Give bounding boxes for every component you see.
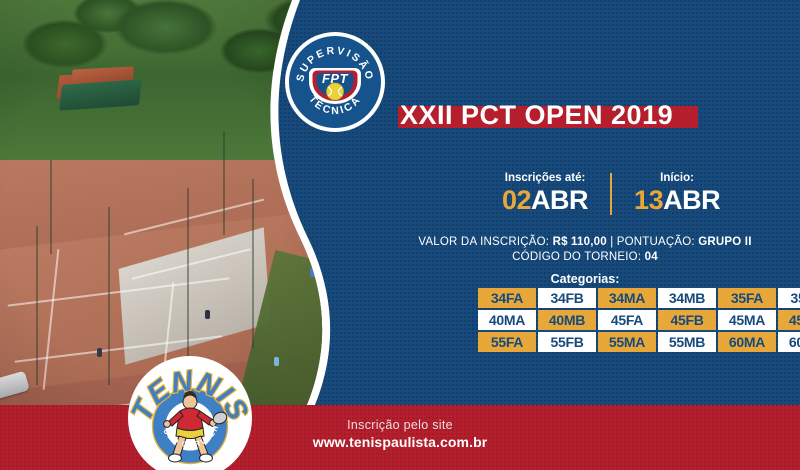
start-month: ABR xyxy=(663,185,720,215)
tennis-ball-icon xyxy=(327,83,344,100)
badge-artwork: SUPERVISÃO TÉCNICA FPT xyxy=(285,32,385,132)
points-group-value: GRUPO II xyxy=(698,236,751,248)
category-chip: 55MA xyxy=(598,332,656,352)
start-day: 13 xyxy=(634,185,663,215)
dates-row: Inscrições até: 02ABR Início: 13ABR xyxy=(480,172,742,216)
info-line-fee-points: VALOR DA INSCRIÇÃO: R$ 110,00 | PONTUAÇÃ… xyxy=(370,235,800,250)
categories-grid: 34FA34FB34MA34MB35FA35FB35MA35MB40MA40MB… xyxy=(478,288,800,352)
code-value: 04 xyxy=(645,251,658,263)
category-chip: 55FB xyxy=(538,332,596,352)
categories-heading: Categorias: xyxy=(370,272,800,286)
category-chip: 34MA xyxy=(598,288,656,308)
deadline-month: ABR xyxy=(531,185,588,215)
registration-deadline-label: Inscrições até: xyxy=(502,172,588,184)
footer-website[interactable]: www.tenispaulista.com.br xyxy=(0,434,800,450)
start-date-label: Início: xyxy=(634,172,720,184)
category-chip: 45FA xyxy=(598,310,656,330)
club-logo-artwork: TENNIS PAULO CARVALHO xyxy=(128,356,252,470)
category-chip: 34MB xyxy=(658,288,716,308)
category-chip: 35FA xyxy=(718,288,776,308)
club-logo: TENNIS PAULO CARVALHO xyxy=(128,356,252,470)
poster-content-column: XXII PCT OPEN 2019 Inscrições até: 02ABR… xyxy=(370,0,800,470)
code-label: CÓDIGO DO TORNEIO: xyxy=(512,251,644,263)
start-date: Início: 13ABR xyxy=(612,172,742,216)
page-title: XXII PCT OPEN 2019 xyxy=(400,100,800,131)
category-chip: 40MA xyxy=(478,310,536,330)
start-date-value: 13ABR xyxy=(634,185,720,216)
fpt-supervision-badge: SUPERVISÃO TÉCNICA FPT xyxy=(285,32,385,132)
category-chip: 45FB xyxy=(658,310,716,330)
footer: Inscrição pelo site www.tenispaulista.co… xyxy=(0,418,800,450)
info-line-code: CÓDIGO DO TORNEIO: 04 xyxy=(370,250,800,265)
category-chip: 60MB xyxy=(778,332,800,352)
category-chip: 55FA xyxy=(478,332,536,352)
info-separator: | PONTUAÇÃO: xyxy=(607,236,698,248)
registration-deadline-value: 02ABR xyxy=(502,185,588,216)
category-chip: 45MA xyxy=(718,310,776,330)
category-chip: 40MB xyxy=(538,310,596,330)
category-chip: 35FB xyxy=(778,288,800,308)
deadline-day: 02 xyxy=(502,185,531,215)
tournament-poster: SUPERVISÃO TÉCNICA FPT xyxy=(0,0,800,470)
category-chip: 55MB xyxy=(658,332,716,352)
fee-label: VALOR DA INSCRIÇÃO: xyxy=(418,236,552,248)
category-chip: 34FA xyxy=(478,288,536,308)
tournament-info: VALOR DA INSCRIÇÃO: R$ 110,00 | PONTUAÇÃ… xyxy=(370,235,800,265)
footer-caption: Inscrição pelo site xyxy=(0,418,800,432)
category-chip: 60MA xyxy=(718,332,776,352)
category-chip: 45MB xyxy=(778,310,800,330)
registration-deadline: Inscrições até: 02ABR xyxy=(480,172,610,216)
fee-value: R$ 110,00 xyxy=(553,236,607,248)
category-chip: 34FB xyxy=(538,288,596,308)
